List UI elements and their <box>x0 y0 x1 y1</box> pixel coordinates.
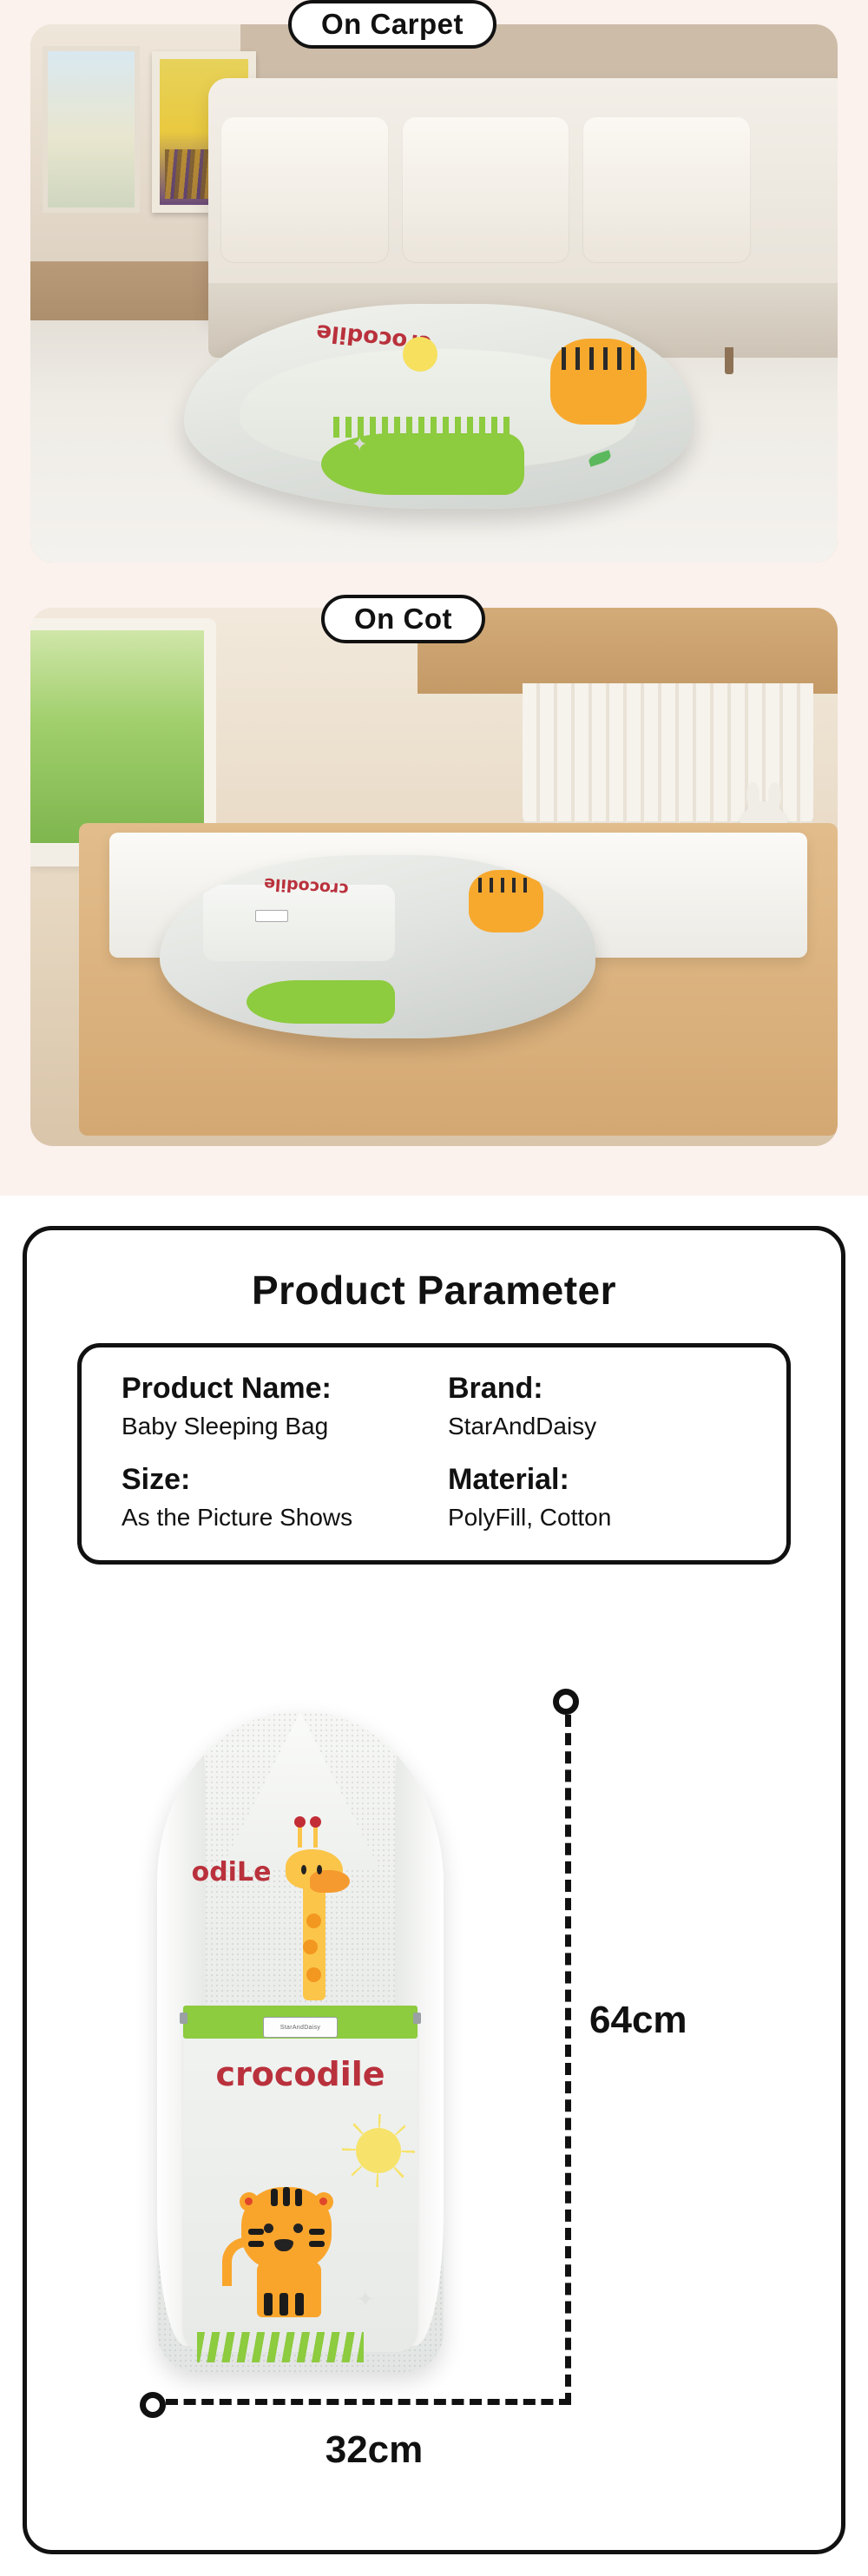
sofa-cushion <box>402 116 569 263</box>
giraffe-spot <box>306 1914 321 1928</box>
cot-scene: crocodile <box>30 608 838 1146</box>
photo-on-cot: crocodile <box>30 608 838 1146</box>
lifestyle-photo-section: crocodile ✦ On Carpet <box>0 0 868 1196</box>
product-sleeping-bag-on-cot: crocodile <box>160 855 595 1038</box>
zipper-pull-left <box>180 2013 187 2024</box>
sofa-cushion <box>582 116 750 263</box>
tiger-ear <box>314 2192 333 2211</box>
window-artwork <box>43 46 140 213</box>
badge-on-carpet-label: On Carpet <box>321 8 464 41</box>
giraffe-horn <box>313 1825 318 1848</box>
tiger-stripe <box>271 2189 278 2206</box>
param-cell-product-name: Product Name: Baby Sleeping Bag <box>82 1370 434 1442</box>
product-parameter-section: Product Parameter Product Name: Baby Sle… <box>0 1196 868 2576</box>
cot-rail <box>109 823 122 1136</box>
param-cell-brand: Brand: StarAndDaisy <box>434 1370 786 1442</box>
crocodile-motif <box>247 980 395 1024</box>
param-value-material: PolyFill, Cotton <box>448 1501 786 1534</box>
product-parameter-card: Product Parameter Product Name: Baby Sle… <box>23 1226 845 2554</box>
giraffe-horn <box>298 1825 302 1848</box>
brand-label-tag-text: StarAndDaisy <box>280 2025 320 2031</box>
dimension-diagram: odiLe <box>27 1682 850 2541</box>
sleeping-bag-body: odiLe <box>157 1712 444 2372</box>
grass-motif <box>197 2332 363 2362</box>
parameter-table: Product Name: Baby Sleeping Bag Brand: S… <box>77 1343 791 1565</box>
tiger-stripe <box>283 2187 290 2206</box>
sun-motif <box>403 337 437 372</box>
tiger-stripe <box>279 2293 288 2316</box>
dimension-label-width: 32cm <box>261 2428 487 2472</box>
nursery-window <box>30 618 216 855</box>
cot-rail <box>716 823 728 1136</box>
cot-rail <box>641 823 653 1136</box>
dimension-line-horizontal <box>166 2399 571 2405</box>
dimension-line-vertical <box>565 1715 571 2405</box>
tiger-motif <box>469 870 542 932</box>
print-word-crocodile: crocodile <box>215 2055 385 2093</box>
giraffe-eye <box>317 1865 322 1874</box>
brand-label-tag: StarAndDaisy <box>263 2017 338 2038</box>
giraffe-motif <box>280 1818 348 2000</box>
tiger-stripe <box>309 2229 325 2235</box>
param-label-size: Size: <box>122 1461 434 1499</box>
giraffe-snout <box>310 1870 350 1893</box>
param-cell-material: Material: PolyFill, Cotton <box>434 1461 786 1533</box>
tiger-motif <box>550 339 647 425</box>
cot-rail <box>792 823 805 1136</box>
product-top-view-photo: odiLe <box>157 1712 444 2372</box>
badge-on-cot-label: On Cot <box>354 603 452 636</box>
param-label-product-name: Product Name: <box>122 1370 434 1407</box>
zipper-pull-right <box>413 2013 421 2024</box>
star-motif: ✦ <box>352 433 367 456</box>
sofa-cushion <box>220 116 388 263</box>
product-sleeping-bag-on-carpet: crocodile ✦ <box>184 304 693 509</box>
star-motif: ✦ <box>356 2286 375 2313</box>
sun-motif <box>356 2128 401 2173</box>
sofa <box>208 78 838 315</box>
sofa-leg <box>725 347 733 374</box>
tiger-stripe <box>248 2241 264 2247</box>
param-label-brand: Brand: <box>448 1370 786 1407</box>
bag-pillow <box>203 885 395 962</box>
param-cell-size: Size: As the Picture Shows <box>82 1461 434 1533</box>
print-word-partial: odiLe <box>192 1857 272 1888</box>
badge-on-cot: On Cot <box>321 595 485 643</box>
tiger-stripe <box>295 2293 304 2316</box>
param-value-size: As the Picture Shows <box>122 1501 434 1534</box>
badge-on-carpet: On Carpet <box>288 0 496 49</box>
giraffe-spot <box>303 1940 318 1954</box>
param-label-material: Material: <box>448 1461 786 1499</box>
giraffe-eye <box>301 1865 306 1874</box>
param-value-brand: StarAndDaisy <box>448 1410 786 1443</box>
tiger-stripe <box>264 2293 273 2316</box>
carpet-scene: crocodile ✦ <box>30 24 838 563</box>
brand-tag-icon <box>255 910 288 922</box>
tiger-motif <box>234 2187 339 2317</box>
giraffe-spot <box>306 1967 321 1982</box>
dimension-label-height: 64cm <box>589 1999 687 2042</box>
tiger-stripe <box>248 2229 264 2235</box>
tiger-stripe <box>309 2241 325 2247</box>
dimension-endpoint-top-icon <box>553 1689 579 1715</box>
page-title: Product Parameter <box>27 1267 841 1314</box>
tiger-stripe <box>295 2189 302 2206</box>
dimension-endpoint-left-icon <box>140 2392 166 2418</box>
photo-on-carpet: crocodile ✦ <box>30 24 838 563</box>
param-value-product-name: Baby Sleeping Bag <box>122 1410 434 1443</box>
